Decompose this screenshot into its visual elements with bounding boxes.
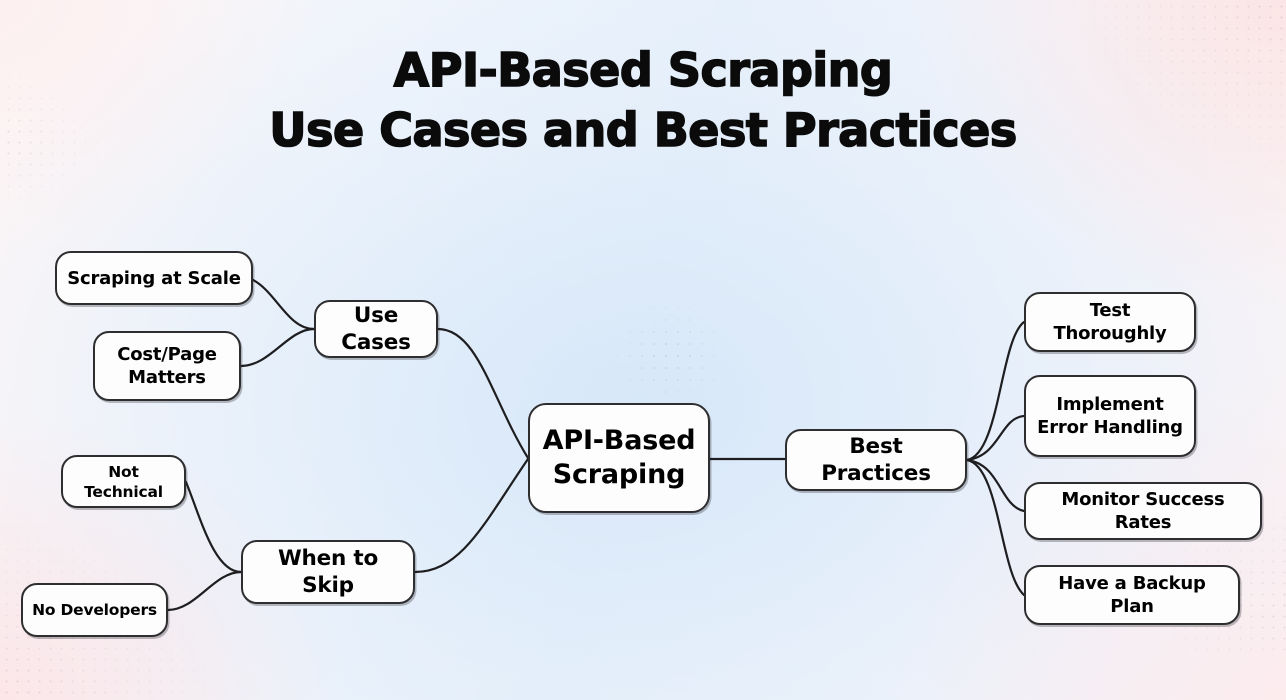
node-branch-best-practices[interactable]: Best Practices (785, 429, 967, 491)
edge-use-cases-to-cost-page-matters (241, 329, 314, 366)
node-leaf-scraping-at-scale[interactable]: Scraping at Scale (55, 251, 253, 305)
node-leaf-have-a-backup-plan-label: Have a Backup Plan (1026, 572, 1238, 618)
page-title-line-2: Use Cases and Best Practices (0, 100, 1286, 160)
node-leaf-no-developers-label: No Developers (24, 600, 165, 620)
edge-root-to-when-to-skip (415, 459, 528, 572)
edge-use-cases-to-scraping-at-scale (253, 280, 314, 329)
node-leaf-cost-page-matters-label: Cost/Page Matters (95, 343, 239, 389)
edge-root-to-use-cases (438, 329, 528, 458)
mindmap-canvas: API-Based Scraping Use Cases and Best Pr… (0, 0, 1286, 700)
node-branch-best-practices-label: Best Practices (787, 433, 965, 487)
node-root-label: API-Based Scraping (530, 424, 708, 492)
node-branch-when-to-skip-label: When to Skip (243, 545, 413, 599)
node-branch-use-cases-label: Use Cases (316, 302, 436, 356)
node-leaf-scraping-at-scale-label: Scraping at Scale (59, 267, 248, 290)
edge-best-practices-to-test-thoroughly (967, 322, 1024, 460)
node-branch-when-to-skip[interactable]: When to Skip (241, 540, 415, 604)
edge-when-to-skip-to-not-technical (186, 482, 241, 572)
node-root-api-based-scraping[interactable]: API-Based Scraping (528, 403, 710, 513)
node-leaf-implement-error-handling-label: Implement Error Handling (1026, 393, 1194, 439)
edge-best-practices-to-monitor-success-rates (967, 460, 1024, 511)
node-leaf-not-technical[interactable]: Not Technical (61, 455, 186, 508)
node-leaf-no-developers[interactable]: No Developers (21, 583, 168, 637)
edge-best-practices-to-implement-error-handling (967, 416, 1024, 460)
page-title-line-1: API-Based Scraping (0, 40, 1286, 100)
dot-texture-center (600, 290, 740, 420)
node-branch-use-cases[interactable]: Use Cases (314, 300, 438, 358)
node-leaf-cost-page-matters[interactable]: Cost/Page Matters (93, 331, 241, 401)
node-leaf-test-thoroughly[interactable]: Test Thoroughly (1024, 292, 1196, 352)
node-leaf-monitor-success-rates-label: Monitor Success Rates (1026, 488, 1260, 534)
node-leaf-have-a-backup-plan[interactable]: Have a Backup Plan (1024, 565, 1240, 625)
page-title: API-Based Scraping Use Cases and Best Pr… (0, 40, 1286, 160)
node-leaf-monitor-success-rates[interactable]: Monitor Success Rates (1024, 482, 1262, 540)
node-leaf-not-technical-label: Not Technical (63, 462, 184, 502)
edge-best-practices-to-have-a-backup-plan (967, 460, 1024, 595)
edge-when-to-skip-to-no-developers (168, 572, 241, 610)
node-leaf-test-thoroughly-label: Test Thoroughly (1026, 299, 1194, 345)
node-leaf-implement-error-handling[interactable]: Implement Error Handling (1024, 375, 1196, 457)
